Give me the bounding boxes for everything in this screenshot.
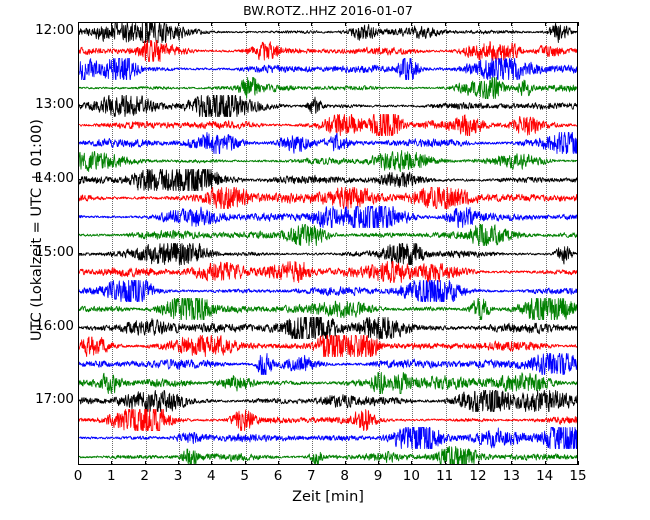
x-tick-mark	[578, 461, 579, 465]
x-tick-mark-top	[378, 22, 379, 26]
x-tick-mark	[345, 461, 346, 465]
x-tick-mark-top	[78, 22, 79, 26]
x-tick-mark	[145, 461, 146, 465]
y-axis-label: UTC (Lokalzeit = UTC + 01:00)	[29, 70, 45, 390]
y-tick-mark	[78, 327, 82, 328]
x-tick-label: 15	[558, 468, 598, 484]
x-tick-mark-top	[278, 22, 279, 26]
x-tick-mark	[245, 461, 246, 465]
helicorder-figure: BW.ROTZ..HHZ 2016-01-07 0123456789101112…	[0, 0, 650, 520]
x-tick-mark-top	[445, 22, 446, 26]
y-tick-mark	[78, 400, 82, 401]
x-tick-mark-top	[111, 22, 112, 26]
x-tick-mark-top	[578, 22, 579, 26]
y-tick-label: 17:00	[0, 391, 74, 407]
y-tick-mark-right	[574, 179, 578, 180]
x-tick-mark	[178, 461, 179, 465]
plot-axes[interactable]	[78, 22, 578, 465]
trace-layer	[79, 23, 577, 464]
y-tick-mark-right	[574, 253, 578, 254]
x-tick-mark	[111, 461, 112, 465]
y-tick-mark	[78, 179, 82, 180]
y-tick-mark-right	[574, 31, 578, 32]
x-axis-label: Zeit [min]	[78, 489, 578, 505]
x-tick-mark	[378, 461, 379, 465]
x-tick-mark	[545, 461, 546, 465]
y-tick-mark	[78, 253, 82, 254]
x-tick-mark-top	[311, 22, 312, 26]
x-tick-mark-top	[211, 22, 212, 26]
x-tick-mark-top	[178, 22, 179, 26]
y-tick-mark	[78, 31, 82, 32]
x-tick-mark-top	[145, 22, 146, 26]
x-tick-mark-top	[545, 22, 546, 26]
x-tick-mark	[445, 461, 446, 465]
x-tick-mark	[411, 461, 412, 465]
x-tick-mark-top	[511, 22, 512, 26]
x-tick-mark-top	[478, 22, 479, 26]
trace-line	[79, 446, 578, 465]
x-tick-mark	[278, 461, 279, 465]
y-tick-mark	[78, 105, 82, 106]
x-tick-mark	[311, 461, 312, 465]
y-tick-mark-right	[574, 400, 578, 401]
x-tick-mark-top	[411, 22, 412, 26]
x-tick-mark-top	[245, 22, 246, 26]
seismic-trace	[79, 440, 578, 465]
y-tick-mark-right	[574, 327, 578, 328]
y-tick-mark-right	[574, 105, 578, 106]
page-title: BW.ROTZ..HHZ 2016-01-07	[78, 3, 578, 19]
x-tick-mark	[211, 461, 212, 465]
x-tick-mark	[511, 461, 512, 465]
x-tick-mark	[478, 461, 479, 465]
x-tick-mark-top	[345, 22, 346, 26]
y-tick-label: 12:00	[0, 22, 74, 38]
x-tick-mark	[78, 461, 79, 465]
